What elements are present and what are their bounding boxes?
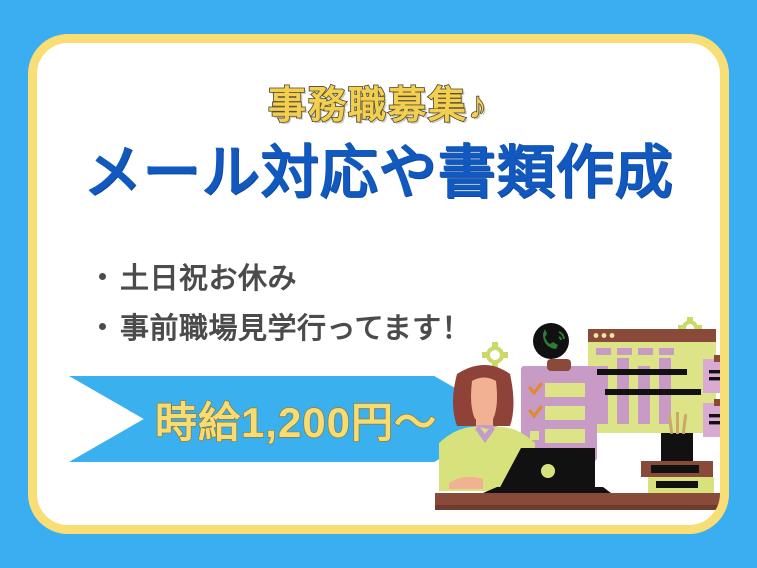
- desk: [435, 493, 729, 505]
- list-item: 事前職場見学行ってます！: [99, 305, 471, 347]
- wage-label: 時給1,200円〜: [141, 389, 437, 450]
- list-item-label: 土日祝お休み: [120, 255, 297, 297]
- sticky-note-lower: [703, 399, 729, 437]
- headline-block: 事務職募集♪ メール対応や書類作成: [37, 43, 720, 204]
- browser-window-chart: [588, 329, 716, 433]
- job-ad-poster: 事務職募集♪ メール対応や書類作成 土日祝お休み 事前職場見学行ってます！ 時給…: [0, 0, 757, 568]
- page-title: メール対応や書類作成: [37, 143, 720, 204]
- list-item: 土日祝お休み: [99, 255, 471, 297]
- list-item-label: 事前職場見学行ってます！: [120, 305, 471, 347]
- phone-icon: [533, 323, 569, 359]
- book-stack: [641, 461, 714, 493]
- white-card-frame: 事務職募集♪ メール対応や書類作成 土日祝お休み 事前職場見学行ってます！ 時給…: [28, 34, 729, 534]
- bullet-dot-icon: [99, 323, 106, 330]
- eyebrow-title: 事務職募集♪: [37, 87, 720, 127]
- benefits-list: 土日祝お休み 事前職場見学行ってます！: [99, 255, 471, 355]
- office-worker-illustration: [435, 311, 729, 533]
- sticky-note-upper: [703, 355, 729, 393]
- bullet-dot-icon: [99, 273, 106, 280]
- desk-edge: [435, 505, 729, 510]
